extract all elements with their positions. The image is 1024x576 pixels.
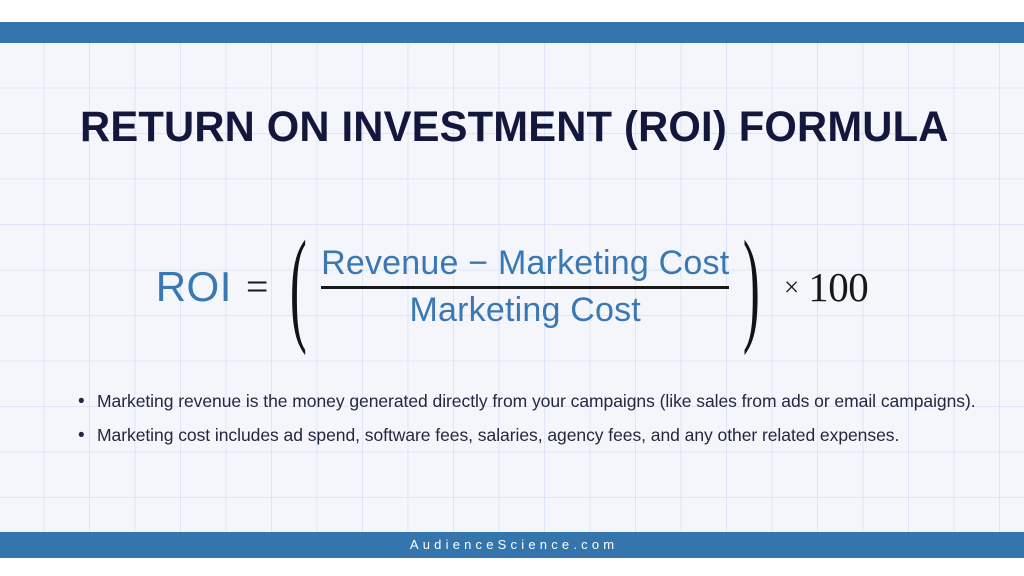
footer-site-label: AudienceScience.com [0,532,1024,558]
formula-fraction: Revenue − Marketing Cost Marketing Cost [321,243,729,331]
formula-multiplier-value: 100 [808,267,868,308]
bullet-text: Marketing cost includes ad spend, softwa… [97,420,899,451]
page-title: RETURN ON INVESTMENT (ROI) FORMULA [80,103,934,152]
bullet-marker-icon: • [78,386,97,417]
bullet-list: • Marketing revenue is the money generat… [78,386,978,454]
top-accent-bar [0,22,1024,43]
formula-close-paren: ) [743,223,760,350]
list-item: • Marketing cost includes ad spend, soft… [78,420,978,451]
bullet-marker-icon: • [78,420,97,451]
formula-denominator: Marketing Cost [410,290,641,331]
formula-multiply-sign: × [784,274,799,301]
roi-formula-expression: ROI = ( Revenue − Marketing Cost Marketi… [0,232,1024,342]
list-item: • Marketing revenue is the money generat… [78,386,978,417]
formula-open-paren: ( [290,223,307,350]
formula-equals-sign: = [246,267,269,307]
formula-numerator: Revenue − Marketing Cost [321,243,729,284]
roi-formula-slide: RETURN ON INVESTMENT (ROI) FORMULA ROI =… [0,0,1024,576]
formula-roi-label: ROI [156,266,232,308]
bullet-text: Marketing revenue is the money generated… [97,386,976,417]
formula-fraction-bar [321,286,729,289]
